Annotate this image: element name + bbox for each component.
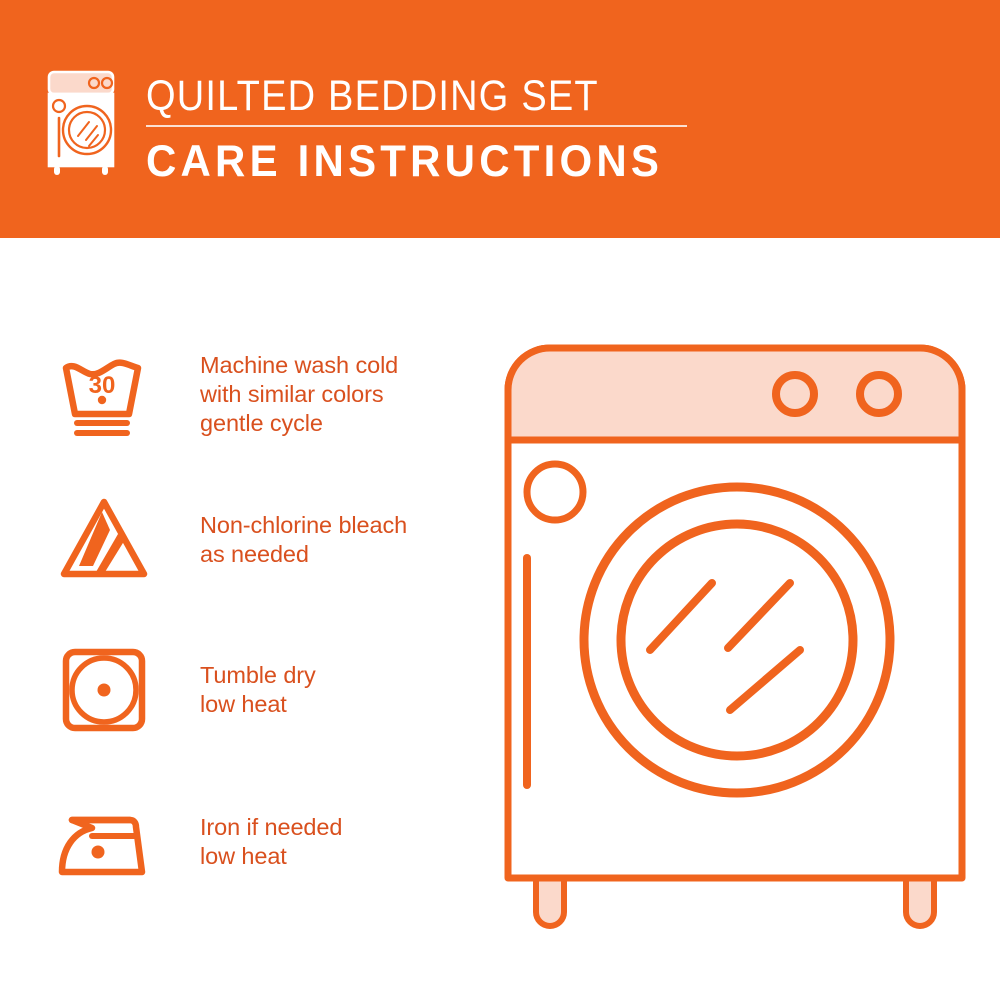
- care-item-tumble-dry: Tumble dry low heat: [52, 638, 472, 742]
- care-text-line: Iron if needed: [200, 813, 342, 842]
- title-divider: [146, 125, 687, 127]
- iron-icon: [52, 790, 156, 894]
- page-subtitle: CARE INSTRUCTIONS: [146, 137, 766, 186]
- care-text-line: Tumble dry: [200, 661, 316, 690]
- care-item-bleach: Non-chlorine bleach as needed: [52, 488, 472, 592]
- washing-machine-illustration: [490, 330, 980, 950]
- low-heat-dot: [92, 846, 105, 859]
- tumble-dry-icon: [52, 638, 156, 742]
- care-text-line: as needed: [200, 540, 407, 569]
- page-title: QUILTED BEDDING SET: [146, 72, 766, 121]
- gentle-cycle-dot: [98, 396, 106, 404]
- care-item-machine-wash: 30 Machine wash cold with similar colors…: [52, 342, 472, 446]
- wash-temperature-label: 30: [89, 372, 116, 399]
- wash-tub-icon: 30: [52, 342, 156, 446]
- care-item-text: Machine wash cold with similar colors ge…: [200, 351, 398, 438]
- knob-right: [860, 375, 898, 413]
- washing-machine-icon: [45, 68, 117, 178]
- care-text-line: Machine wash cold: [200, 351, 398, 380]
- care-item-iron: Iron if needed low heat: [52, 790, 472, 894]
- care-item-text: Tumble dry low heat: [200, 661, 316, 719]
- bleach-triangle-icon: [52, 488, 156, 592]
- care-text-line: Non-chlorine bleach: [200, 511, 407, 540]
- care-text-line: low heat: [200, 690, 316, 719]
- care-item-text: Non-chlorine bleach as needed: [200, 511, 407, 569]
- care-text-line: low heat: [200, 842, 342, 871]
- header-banner: QUILTED BEDDING SET CARE INSTRUCTIONS: [0, 0, 1000, 238]
- care-text-line: gentle cycle: [200, 409, 398, 438]
- low-heat-dot: [98, 684, 111, 697]
- header-title-block: QUILTED BEDDING SET CARE INSTRUCTIONS: [146, 72, 766, 183]
- care-text-line: with similar colors: [200, 380, 398, 409]
- knob-left: [776, 375, 814, 413]
- care-instructions-list: 30 Machine wash cold with similar colors…: [0, 238, 500, 1000]
- care-item-text: Iron if needed low heat: [200, 813, 342, 871]
